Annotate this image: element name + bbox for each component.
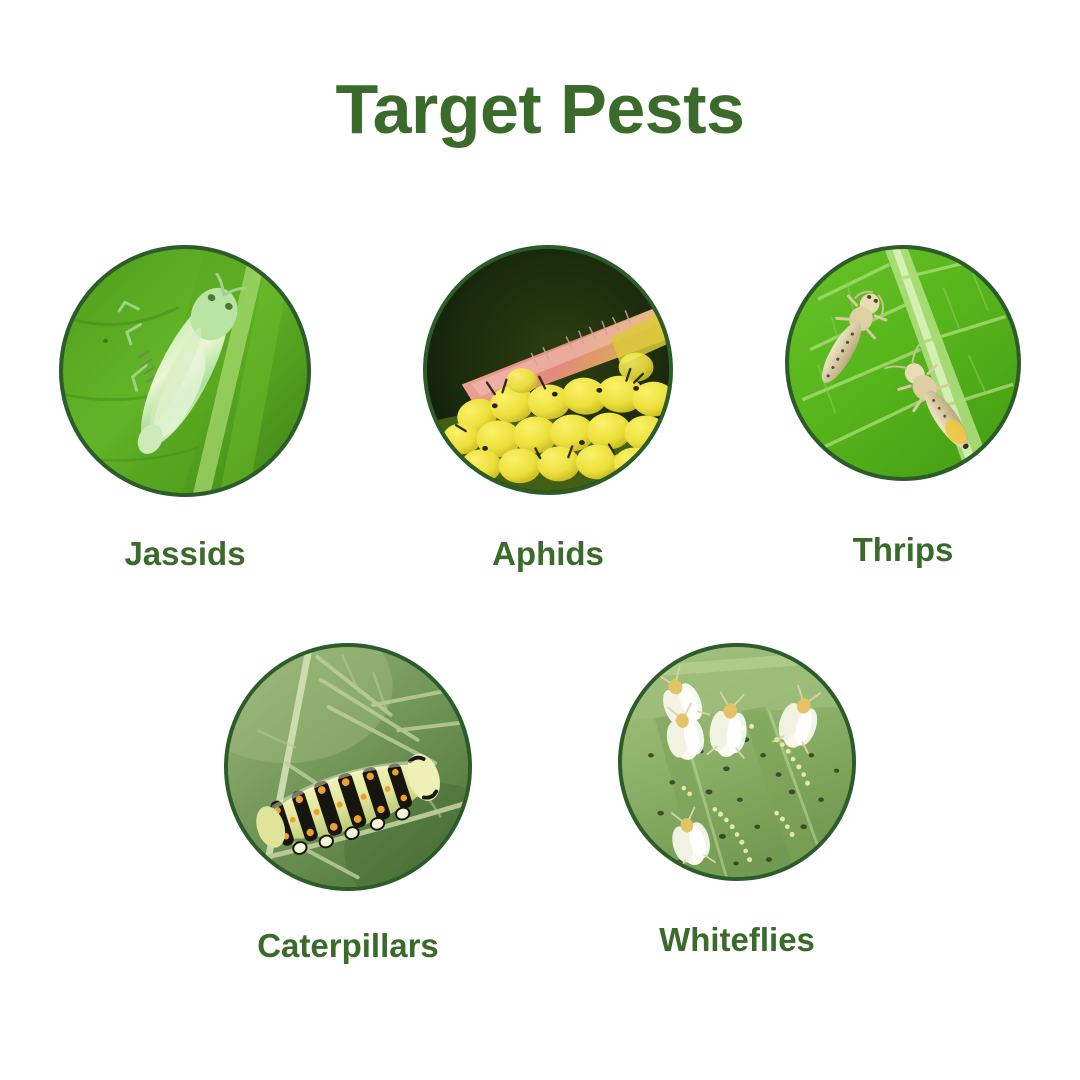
pest-label-aphids: Aphids <box>492 537 604 570</box>
pest-label-jassids: Jassids <box>124 537 245 570</box>
jassids-photo-ring[interactable] <box>59 245 311 497</box>
pest-card-caterpillars[interactable]: Caterpillars <box>224 643 472 962</box>
caterpillars-photo-ring[interactable] <box>224 643 472 891</box>
caterpillars-photo <box>228 647 468 887</box>
pest-card-thrips[interactable]: Thrips <box>785 245 1021 570</box>
pest-card-whiteflies[interactable]: Whiteflies <box>618 643 856 962</box>
pest-card-jassids[interactable]: Jassids <box>59 245 311 570</box>
pest-label-caterpillars: Caterpillars <box>257 929 439 962</box>
thrips-photo-ring[interactable] <box>785 245 1021 481</box>
jassid-leafhopper-photo <box>63 249 307 493</box>
caterpillar-on-stem-photo <box>228 647 468 887</box>
aphid-colony-photo <box>427 249 669 491</box>
target-pests-infographic: Target Pests <box>0 0 1080 1080</box>
whiteflies-on-leaf-photo <box>622 647 852 877</box>
aphids-photo <box>427 249 669 491</box>
pest-card-aphids[interactable]: Aphids <box>423 245 673 570</box>
thrips-photo <box>789 249 1017 477</box>
whiteflies-photo <box>622 647 852 877</box>
aphids-photo-ring[interactable] <box>423 245 673 495</box>
pest-label-whiteflies: Whiteflies <box>659 923 815 956</box>
page-title: Target Pests <box>0 74 1080 144</box>
jassids-photo <box>63 249 307 493</box>
pest-label-thrips: Thrips <box>853 533 954 566</box>
whiteflies-photo-ring[interactable] <box>618 643 856 881</box>
pest-row-bottom: Caterpillars <box>0 643 1080 962</box>
pest-row-top: Jassids <box>0 245 1080 570</box>
thrips-on-leaf-photo <box>789 249 1017 477</box>
